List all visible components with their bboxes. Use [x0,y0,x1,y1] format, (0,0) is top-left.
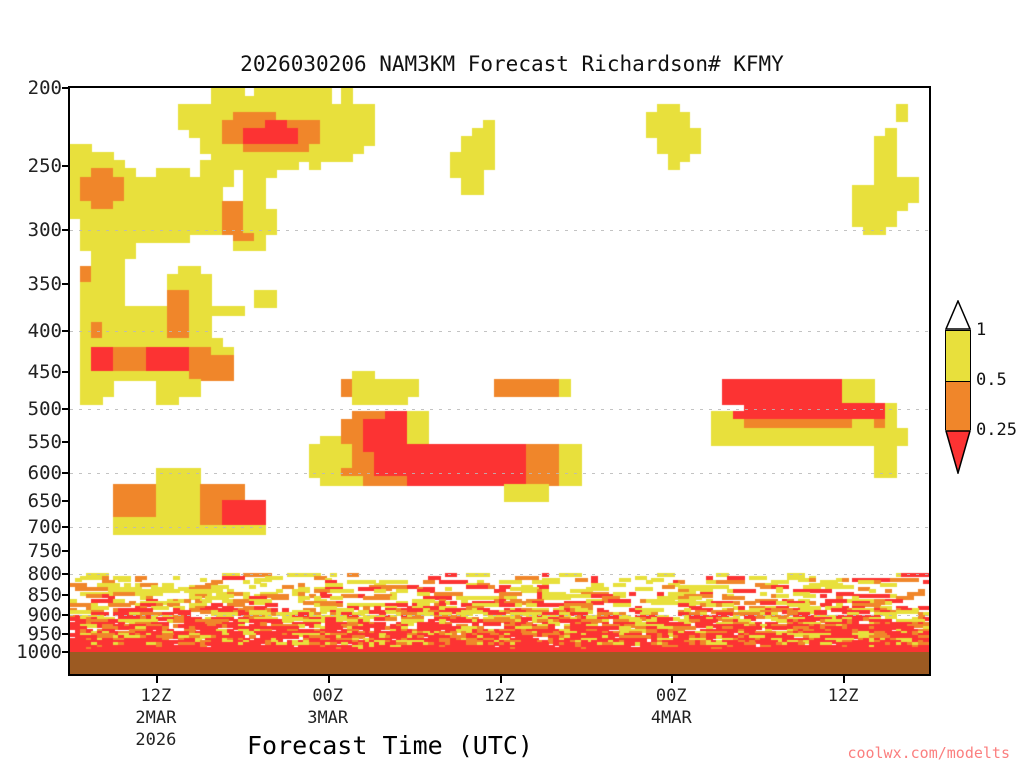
x-tick-mark-2 [500,676,502,683]
x-tick-date: 2MAR [135,708,176,730]
x-tick-mark-4 [843,676,845,683]
x-tick-date: 4MAR [651,708,692,730]
x-tick-date: 3MAR [307,708,348,730]
colorbar-segment-0 [946,331,970,381]
colorbar-tick-label-0: 1 [976,320,986,340]
x-tick-time: 12Z [828,686,859,708]
x-tick-mark-1 [328,676,330,683]
colorbar-segment-1 [946,381,970,432]
colorbar-arrow-up-outline [945,300,971,330]
x-tick-time: 00Z [651,686,692,708]
x-tick-label-3: 00Z4MAR [651,686,692,730]
colorbar-body [945,330,971,430]
x-tick-time: 12Z [135,686,176,708]
colorbar-legend: 10.50.25 [940,300,1024,480]
x-tick-label-2: 12Z [484,686,515,708]
x-tick-label-4: 12Z [828,686,859,708]
x-tick-mark-0 [156,676,158,683]
x-tick-time: 00Z [307,686,348,708]
watermark: coolwx.com/modelts [847,744,1010,762]
colorbar-tick-label-1: 0.5 [976,370,1007,390]
x-tick-label-1: 00Z3MAR [307,686,348,730]
x-axis: 12Z2MAR202600Z3MAR12Z00Z4MAR12Z [0,0,1024,768]
x-tick-mark-3 [671,676,673,683]
x-tick-time: 12Z [484,686,515,708]
colorbar-tick-label-2: 0.25 [976,420,1017,440]
x-axis-title: Forecast Time (UTC) [0,731,780,760]
colorbar-arrow-down [945,430,971,474]
